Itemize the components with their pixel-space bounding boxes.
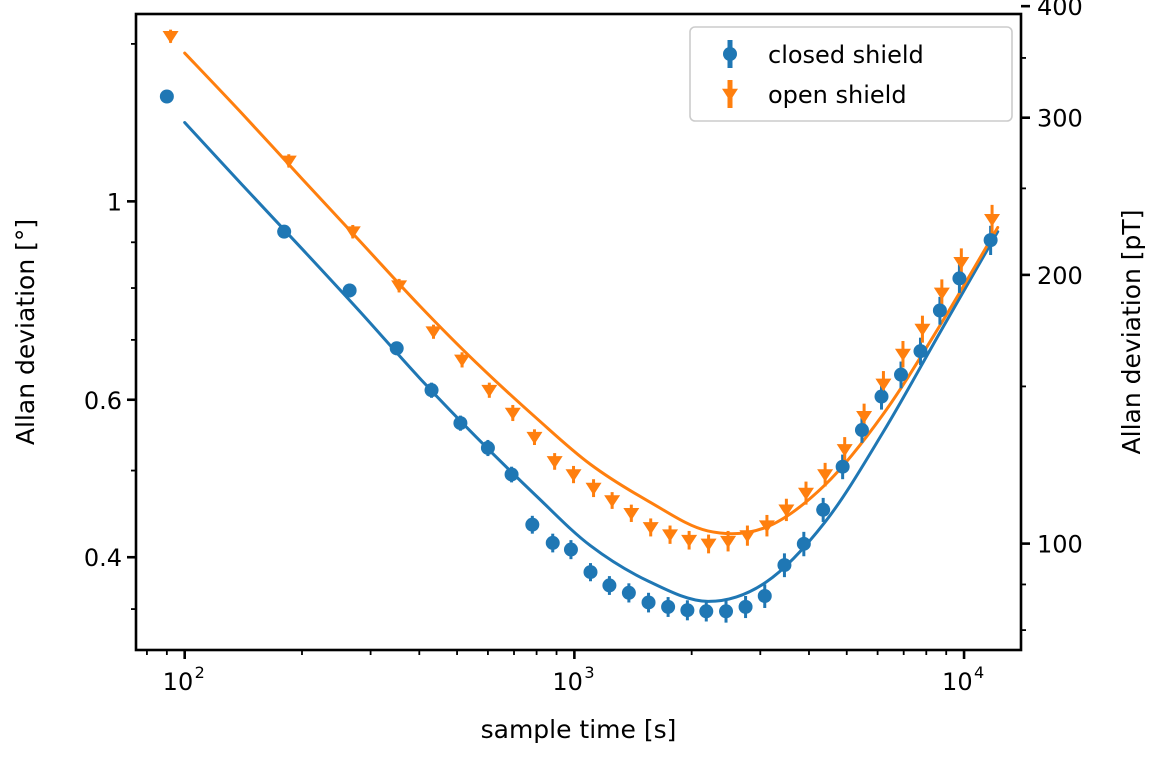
x-tick-mantissa: 10 [163,668,194,696]
data-point-marker [739,530,755,542]
data-point-marker [566,469,582,481]
data-point-marker [952,271,966,285]
fit-curve-closed-shield [185,123,998,602]
data-point-marker [345,226,361,238]
data-point-marker [343,283,357,297]
data-point-marker [281,156,297,168]
data-point-marker [914,324,930,336]
legend-label: open shield [768,81,907,109]
data-point-marker [777,558,791,572]
data-point-marker [584,565,598,579]
data-point-marker [699,604,713,618]
data-point-marker [454,355,470,367]
data-point-marker [661,600,675,614]
y-left-tick-label-2: 0.4 [84,544,122,572]
x-tick-mantissa: 10 [942,668,973,696]
allan-deviation-figure: 10210310410.60.4400300200100 sample time… [0,0,1168,767]
data-point-marker [643,522,659,534]
data-point-marker [875,379,891,391]
data-point-marker [681,535,697,547]
x-tick-exponent: 3 [584,663,594,682]
x-tick-label-1: 103 [552,663,594,696]
data-point-marker [719,604,733,618]
data-point-marker [758,589,772,603]
data-point-marker [984,214,1000,226]
data-point-marker [642,595,656,609]
x-tick-exponent: 2 [195,663,205,682]
x-tick-exponent: 4 [974,663,984,682]
y-right-tick-label-2: 200 [1037,262,1083,290]
data-point-marker [546,536,560,550]
y-right-tick-label-1: 300 [1037,105,1083,133]
data-point-marker [797,537,811,551]
legend-marker-circle-icon [723,47,737,61]
data-point-marker [836,460,850,474]
data-point-marker [934,288,950,300]
data-point-marker [953,257,969,269]
y-axis-label-right: Allan deviation [pT] [1117,210,1146,455]
data-point-marker [586,483,602,495]
legend-label: closed shield [768,41,924,69]
x-axis-label: sample time [s] [481,715,677,744]
data-point-marker [856,411,872,423]
data-point-marker [680,603,694,617]
data-point-marker [875,390,889,404]
data-point-marker [662,529,678,541]
data-point-marker [564,543,578,557]
data-point-marker [453,416,467,430]
data-point-marker [816,503,830,517]
chart-canvas: 10210310410.60.4400300200100 sample time… [0,0,1168,767]
data-point-marker [425,326,441,338]
data-point-marker [984,233,998,247]
data-point-marker [739,600,753,614]
legend-layer: closed shieldopen shield [690,27,1012,121]
data-point-marker [505,408,521,420]
y-axis-label-left: Allan deviation [°] [11,219,40,445]
data-point-marker [623,508,639,520]
data-point-marker [778,505,794,517]
data-point-marker [895,349,911,361]
x-tick-label-2: 104 [942,663,984,696]
data-point-marker [855,423,869,437]
data-point-marker [547,456,563,468]
y-right-tick-label-3: 100 [1037,531,1083,559]
fit-curve-open-shield [185,53,998,534]
data-point-marker [526,432,542,444]
y-left-tick-label-0: 1 [107,188,122,216]
data-point-marker [913,344,927,358]
data-point-marker [481,441,495,455]
data-point-marker [390,341,404,355]
data-point-marker [525,518,539,532]
data-point-marker [622,586,636,600]
data-point-marker [604,495,620,507]
data-point-marker [505,467,519,481]
data-point-marker [837,444,853,456]
x-tick-mantissa: 10 [552,668,583,696]
fit-curves-layer [185,53,998,601]
data-point-marker [759,520,775,532]
x-tick-label-0: 102 [163,663,205,696]
data-point-marker [425,383,439,397]
data-point-marker [720,536,736,548]
data-point-marker [160,89,174,103]
y-left-tick-label-1: 0.6 [84,387,122,415]
data-point-marker [602,578,616,592]
data-point-marker [481,385,497,397]
data-point-marker [163,31,179,43]
data-point-marker [933,304,947,318]
data-point-marker [277,225,291,239]
y-right-tick-label-0: 400 [1037,0,1083,21]
data-point-marker [701,539,717,551]
data-point-marker [894,368,908,382]
